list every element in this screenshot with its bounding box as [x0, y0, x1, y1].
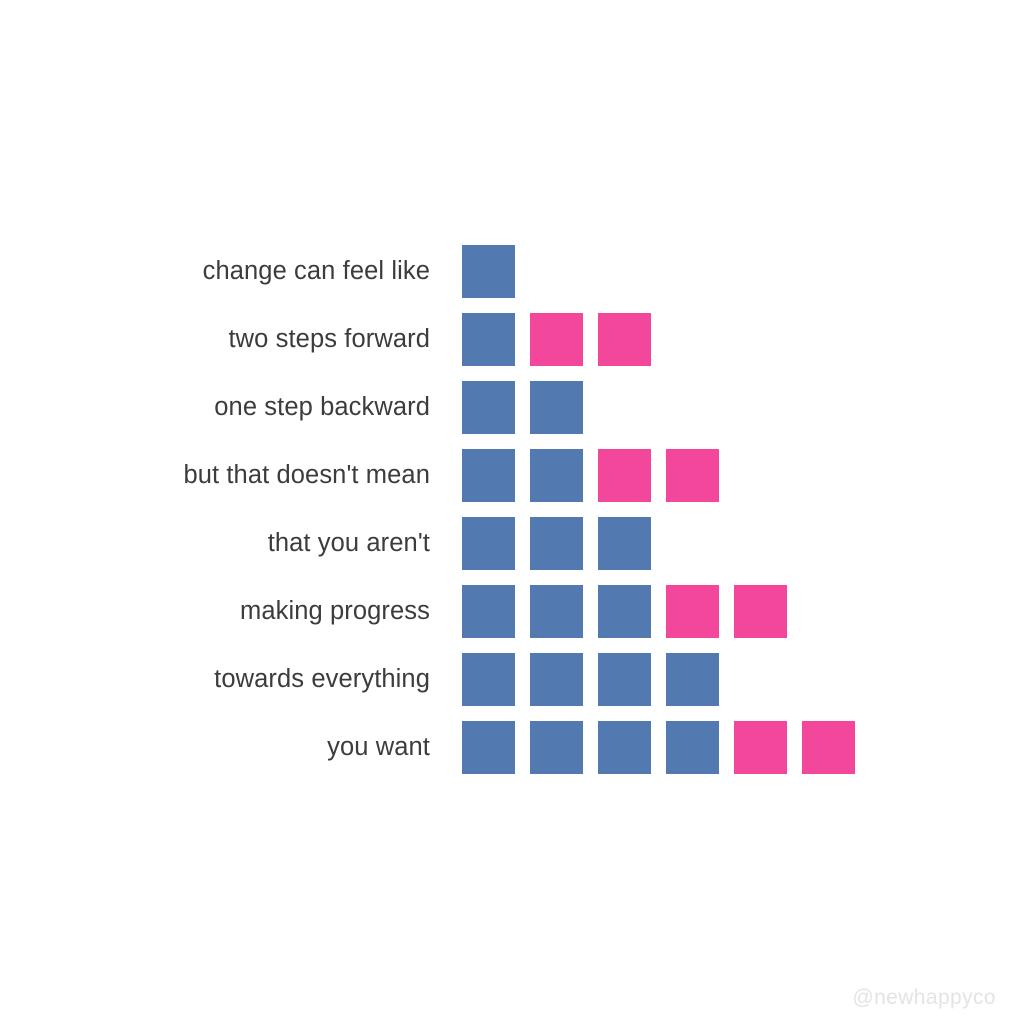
square-blue	[598, 517, 651, 570]
staircase-chart: change can feel like two steps forward o…	[0, 245, 1024, 789]
square-blue	[462, 517, 515, 570]
row-squares	[462, 313, 651, 366]
square-blue	[666, 653, 719, 706]
square-blue	[462, 721, 515, 774]
infographic-canvas: change can feel like two steps forward o…	[0, 0, 1024, 1024]
square-pink	[666, 449, 719, 502]
watermark-handle: @newhappyco	[852, 986, 996, 1010]
square-blue	[530, 653, 583, 706]
row-squares	[462, 517, 651, 570]
row-label: two steps forward	[228, 313, 430, 366]
row-squares	[462, 721, 855, 774]
square-pink	[734, 585, 787, 638]
row-label: one step backward	[214, 381, 430, 434]
square-blue	[462, 653, 515, 706]
row-label: change can feel like	[203, 245, 430, 298]
square-blue	[530, 721, 583, 774]
row-label: but that doesn't mean	[183, 449, 430, 502]
row-label: towards everything	[214, 653, 430, 706]
table-row: you want	[0, 721, 1024, 789]
square-blue	[530, 585, 583, 638]
square-pink	[666, 585, 719, 638]
row-squares	[462, 585, 787, 638]
row-label: making progress	[240, 585, 430, 638]
row-squares	[462, 449, 719, 502]
square-pink	[530, 313, 583, 366]
square-blue	[666, 721, 719, 774]
square-blue	[462, 381, 515, 434]
square-blue	[462, 313, 515, 366]
square-blue	[530, 517, 583, 570]
square-blue	[462, 585, 515, 638]
square-blue	[462, 245, 515, 298]
row-squares	[462, 245, 515, 298]
table-row: towards everything	[0, 653, 1024, 721]
square-pink	[802, 721, 855, 774]
square-blue	[530, 381, 583, 434]
row-squares	[462, 653, 719, 706]
square-blue	[598, 721, 651, 774]
row-label: you want	[327, 721, 430, 774]
square-blue	[598, 585, 651, 638]
square-blue	[462, 449, 515, 502]
square-blue	[530, 449, 583, 502]
square-pink	[734, 721, 787, 774]
table-row: but that doesn't mean	[0, 449, 1024, 517]
square-blue	[598, 653, 651, 706]
row-label: that you aren't	[268, 517, 430, 570]
square-pink	[598, 449, 651, 502]
table-row: one step backward	[0, 381, 1024, 449]
table-row: change can feel like	[0, 245, 1024, 313]
table-row: that you aren't	[0, 517, 1024, 585]
table-row: making progress	[0, 585, 1024, 653]
table-row: two steps forward	[0, 313, 1024, 381]
square-pink	[598, 313, 651, 366]
row-squares	[462, 381, 583, 434]
